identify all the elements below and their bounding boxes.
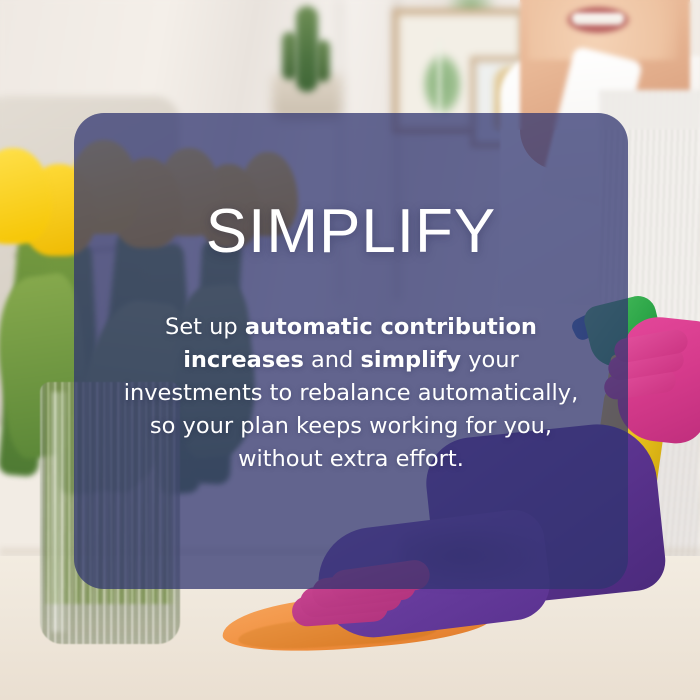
photo-blur-top: [0, 0, 700, 130]
image-canvas: SIMPLIFY Set up automatic contribution i…: [0, 0, 700, 700]
vase-highlight: [52, 392, 70, 632]
body-text-run: and: [304, 347, 361, 373]
message-card: SIMPLIFY Set up automatic contribution i…: [74, 113, 628, 589]
page-title: SIMPLIFY: [206, 201, 497, 263]
body-text-emphasis: simplify: [361, 347, 462, 373]
body-text-run: Set up: [165, 314, 245, 340]
body-text: Set up automatic contribution increases …: [111, 311, 591, 476]
